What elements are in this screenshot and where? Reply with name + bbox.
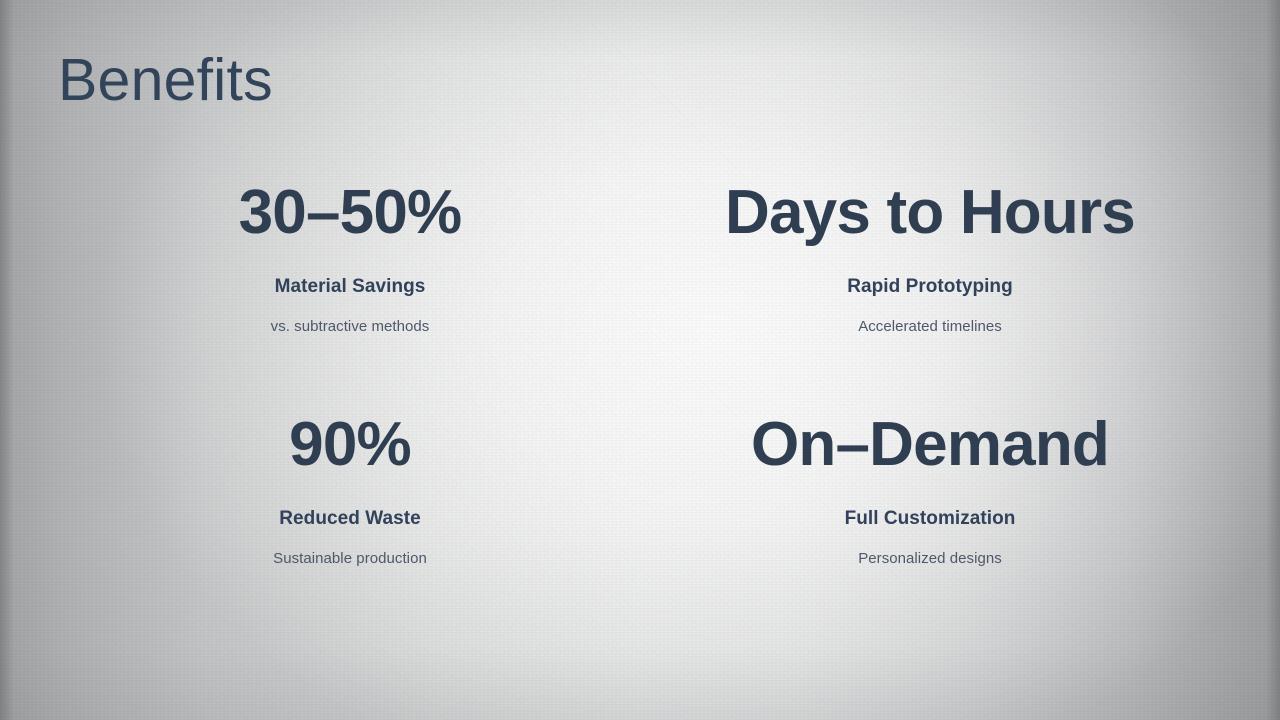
stat-label: Reduced Waste	[60, 508, 640, 531]
stat-sublabel: vs. subtractive methods	[60, 318, 640, 336]
stat-label: Rapid Prototyping	[640, 276, 1220, 299]
stat-value: 90%	[60, 412, 640, 479]
stat-label: Full Customization	[640, 508, 1220, 531]
stat-card-full-customization: On–Demand Full Customization Personalize…	[640, 412, 1220, 568]
slide-content: Benefits 30–50% Material Savings vs. sub…	[0, 0, 1280, 720]
stat-card-material-savings: 30–50% Material Savings vs. subtractive …	[60, 180, 640, 336]
stat-value: On–Demand	[640, 412, 1220, 479]
page-title: Benefits	[58, 50, 273, 112]
presentation-slide: Benefits 30–50% Material Savings vs. sub…	[0, 0, 1280, 720]
stat-value: 30–50%	[60, 180, 640, 247]
benefits-stat-grid: 30–50% Material Savings vs. subtractive …	[60, 180, 1220, 568]
stat-card-rapid-prototyping: Days to Hours Rapid Prototyping Accelera…	[640, 180, 1220, 336]
stat-sublabel: Personalized designs	[640, 550, 1220, 568]
stat-value: Days to Hours	[640, 180, 1220, 247]
stat-sublabel: Accelerated timelines	[640, 318, 1220, 336]
stat-label: Material Savings	[60, 276, 640, 299]
stat-sublabel: Sustainable production	[60, 550, 640, 568]
stat-card-reduced-waste: 90% Reduced Waste Sustainable production	[60, 412, 640, 568]
